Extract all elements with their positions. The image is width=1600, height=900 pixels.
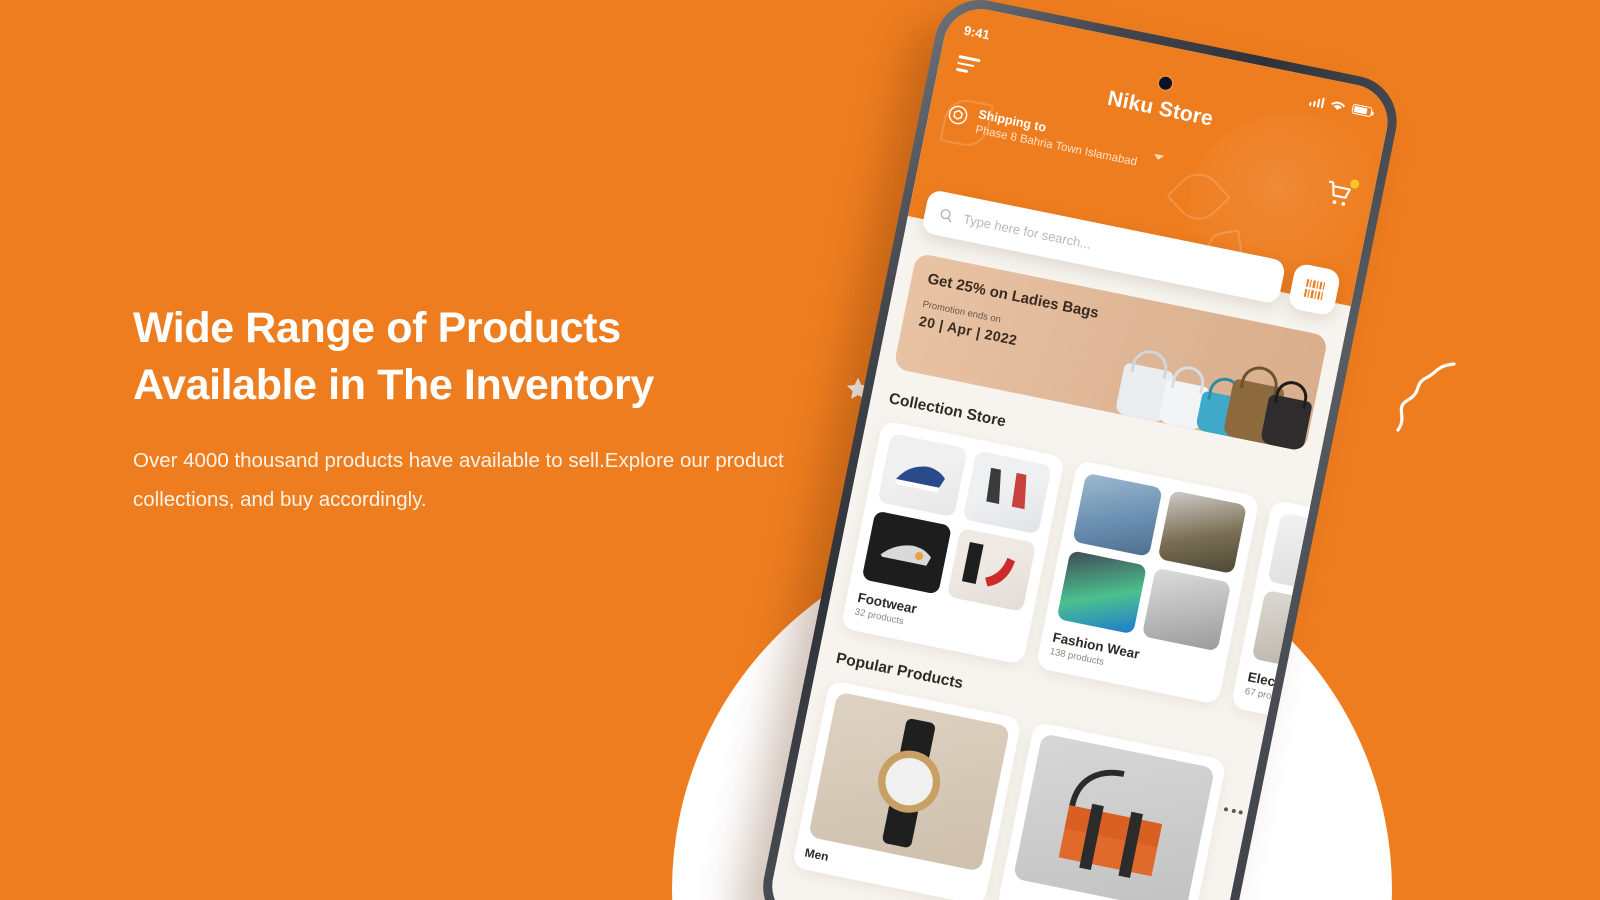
product-card-bag[interactable] (997, 721, 1227, 900)
thumb-model-blue-dress (1072, 473, 1162, 557)
phone-frame: 9:41 Niku Store (755, 0, 1405, 900)
hamburger-icon[interactable] (956, 55, 981, 75)
location-icon (945, 102, 971, 128)
signal-icon (1309, 94, 1325, 108)
thumb-watch-device (1336, 607, 1394, 691)
thumb-headphones (1267, 512, 1357, 596)
page-title: Wide Range of Products Available in The … (133, 300, 813, 414)
thumb-camera (1352, 530, 1394, 614)
collection-card-fashion-wear[interactable]: Fashion Wear 138 products (1035, 460, 1260, 705)
status-time: 9:41 (963, 22, 991, 42)
phone-screen: 9:41 Niku Store (766, 2, 1395, 900)
hero-subcopy: Over 4000 thousand products have availab… (133, 441, 793, 521)
headline-line-2: Available in The Inventory (133, 357, 813, 414)
popular-products-list: Men (792, 680, 1242, 900)
battery-icon (1351, 104, 1373, 118)
product-image-bag (1013, 733, 1215, 900)
more-options-icon[interactable] (1224, 807, 1243, 815)
search-icon (938, 206, 956, 224)
thumb-sneaker-blue (877, 433, 967, 517)
chevron-down-icon[interactable] (1153, 154, 1164, 161)
thumb-heels-red (946, 528, 1036, 612)
thumb-model-grey-sweater (1141, 567, 1231, 651)
thumb-sneaker-dark (862, 511, 952, 595)
app-title: Niku Store (1105, 87, 1215, 132)
phone-mockup: 9:41 Niku Store (753, 0, 1493, 900)
thumb-speaker (1252, 590, 1342, 674)
cart-icon[interactable] (1322, 177, 1357, 212)
wifi-icon (1330, 99, 1347, 113)
collection-count: 67 products (1244, 686, 1394, 729)
product-card-watch[interactable]: Men (792, 680, 1022, 900)
thumb-shoes-pair (962, 450, 1052, 534)
collection-card-footwear[interactable]: Footwear 32 products (840, 420, 1065, 665)
barcode-scan-icon[interactable] (1287, 262, 1341, 316)
app-content: Get 25% on Ladies Bags Promotion ends on… (766, 216, 1351, 900)
search-placeholder: Type here for search... (962, 211, 1092, 252)
product-image-watch (808, 692, 1010, 872)
headline-line-1: Wide Range of Products (133, 300, 813, 357)
thumb-model-camo (1157, 490, 1247, 574)
collection-card-electronics[interactable]: Electronics 67 products (1230, 499, 1394, 744)
hero-copy: Wide Range of Products Available in The … (133, 300, 813, 520)
thumb-model-green-shirt (1057, 550, 1147, 634)
